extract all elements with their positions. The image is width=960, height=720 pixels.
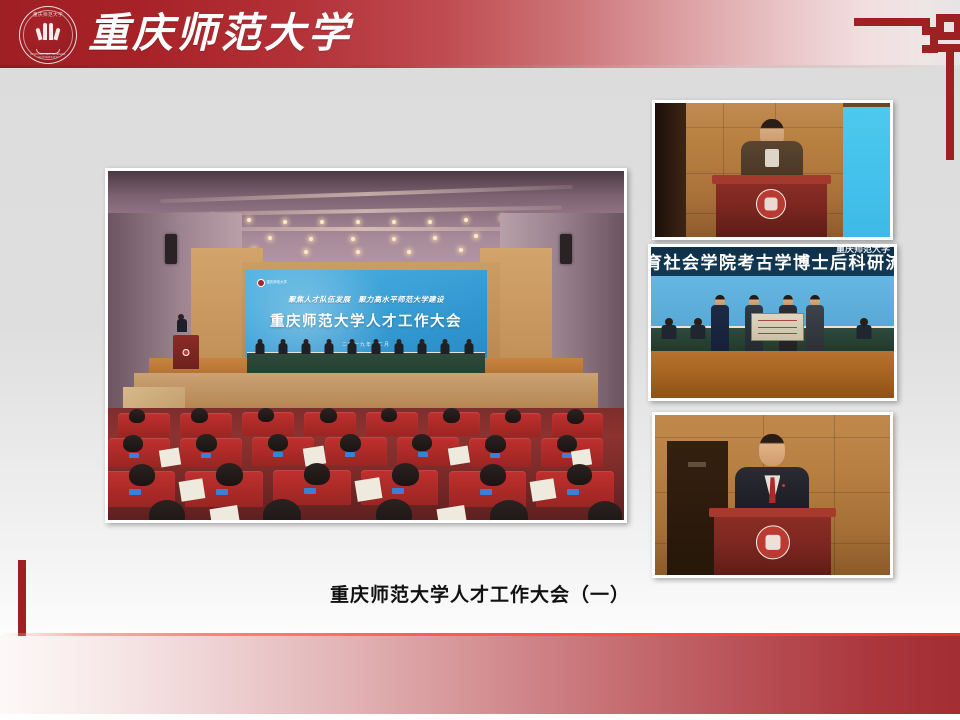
r3-speaker (742, 434, 803, 517)
r2-banner-text: 育社会学院考古学博士后科研流动 (651, 249, 894, 274)
hall-podium-speaker (177, 314, 187, 332)
r3-podium-emblem-icon (756, 525, 790, 559)
r1-podium-emblem-icon (756, 189, 786, 219)
screen-logo: 重庆师范大学 (257, 278, 287, 287)
university-seal-icon: 重庆师范大学 CHONGQING NORMAL UNIVERSITY (19, 6, 77, 64)
r3-scene (655, 415, 890, 575)
hall-podium (173, 335, 199, 369)
audience-area (108, 408, 624, 520)
screen-subtitle: 聚焦人才队伍发展 聚力高水平师范大学建设 (245, 294, 488, 305)
r2-person-1 (709, 295, 731, 351)
screen-logo-text: 重庆师范大学 (267, 281, 287, 284)
r1-screen-edge (843, 107, 890, 237)
r2-stage-floor (651, 351, 894, 398)
r1-scene (655, 103, 890, 237)
podium-speaker-photo-bottom[interactable] (652, 412, 893, 578)
bottom-gradient-band (0, 636, 960, 714)
r2-person-4 (804, 295, 826, 351)
r2-banner: 重庆师范大学 育社会学院考古学博士后科研流动 (651, 247, 894, 276)
r1-speaker (744, 119, 800, 183)
plaque-ceremony-photo[interactable]: 重庆师范大学 育社会学院考古学博士后科研流动 (648, 244, 897, 401)
podium-speaker-photo-top[interactable] (652, 100, 893, 240)
r1-dark-edge (655, 103, 686, 237)
seal-bottom-text: CHONGQING NORMAL UNIVERSITY (20, 53, 76, 59)
conference-hall-photo[interactable]: 重庆师范大学 聚焦人才队伍发展 聚力高水平师范大学建设 重庆师范大学人才工作大会… (105, 168, 627, 523)
presidium-table (247, 352, 484, 375)
university-wordmark: 重庆师范大学 (88, 9, 352, 57)
seal-flame-icon (35, 22, 61, 46)
slide-caption: 重庆师范大学人才工作大会（一） (0, 580, 960, 607)
r1-podium (716, 175, 826, 237)
r2-scene: 重庆师范大学 育社会学院考古学博士后科研流动 (651, 247, 894, 398)
hall-scene: 重庆师范大学 聚焦人才队伍发展 聚力高水平师范大学建设 重庆师范大学人才工作大会… (108, 171, 624, 520)
r2-plaque (751, 313, 804, 340)
seal-top-text: 重庆师范大学 (20, 13, 76, 18)
bottom-footer-strip (0, 714, 960, 720)
r3-podium (714, 508, 832, 575)
screen-title: 重庆师范大学人才工作大会 (245, 310, 488, 331)
slide-header: 重庆师范大学 CHONGQING NORMAL UNIVERSITY 重庆师范大… (0, 0, 960, 68)
